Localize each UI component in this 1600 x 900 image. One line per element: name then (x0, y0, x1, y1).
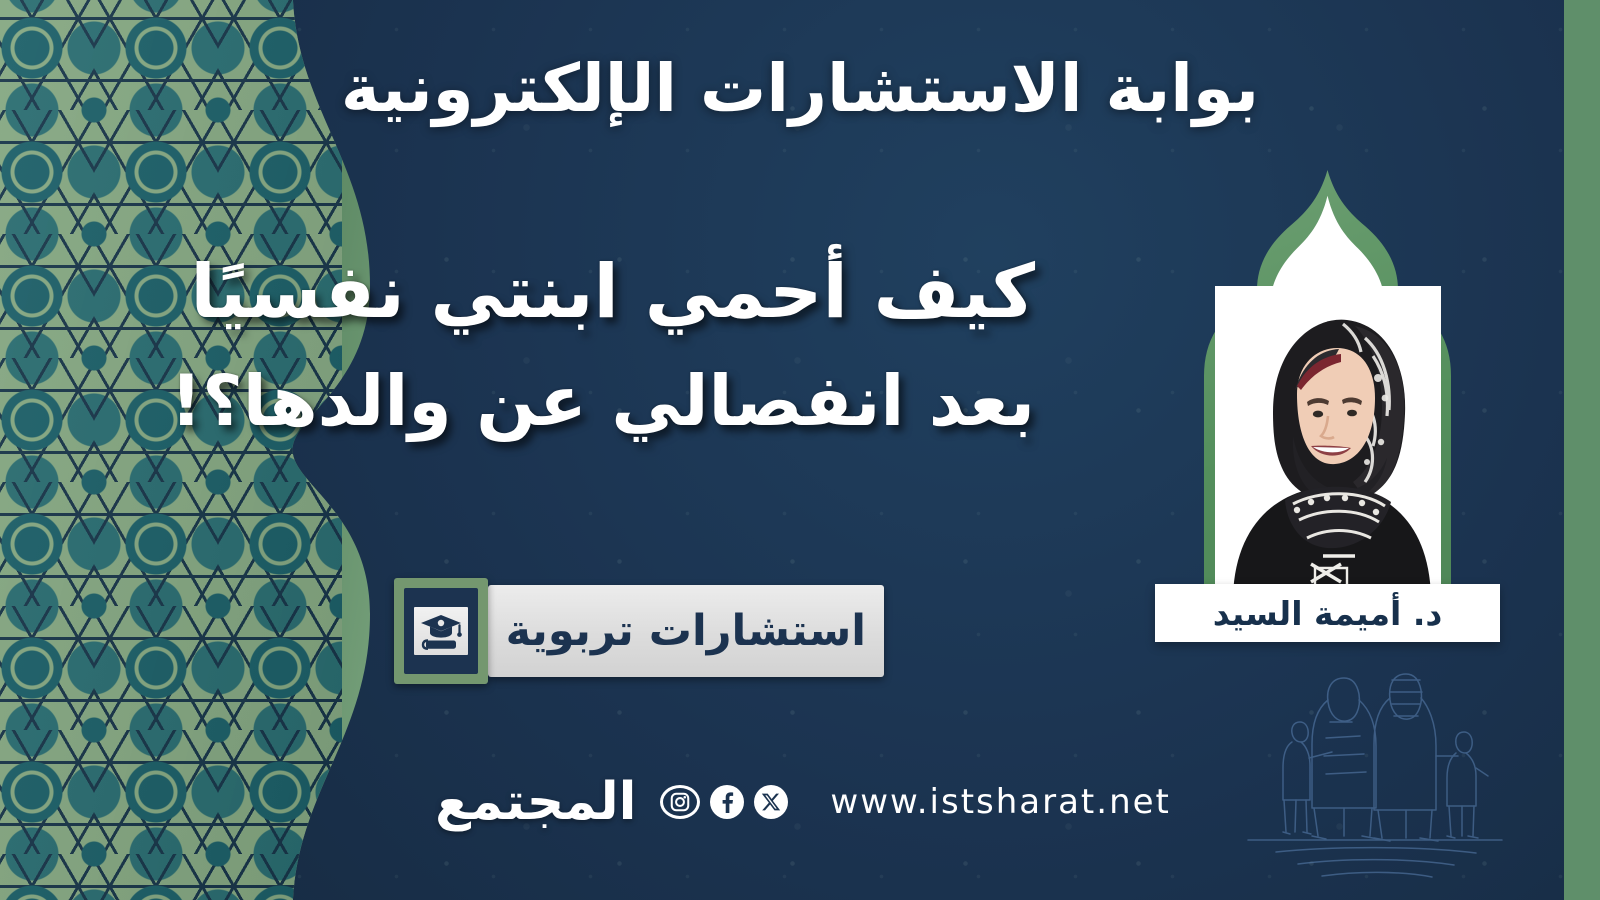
expert-name: د. أميمة السيد (1213, 594, 1443, 633)
footer-bar: المجتمع www.istsharat.net (0, 752, 1600, 852)
headline: كيف أحمي ابنتي نفسيًا بعد انفصالي عن وال… (275, 236, 1035, 455)
social-links (660, 785, 788, 819)
expert-portrait-card: د. أميمة السيد (1155, 166, 1500, 636)
category-badge-icon-box (394, 578, 488, 684)
expert-nameplate: د. أميمة السيد (1155, 584, 1500, 642)
facebook-icon[interactable] (710, 785, 744, 819)
avatar (1215, 286, 1441, 596)
category-badge-plate: استشارات تربوية (488, 585, 884, 677)
category-badge-label: استشارات تربوية (488, 606, 884, 656)
headline-line-1: كيف أحمي ابنتي نفسيًا (275, 236, 1035, 348)
website-url[interactable]: www.istsharat.net (830, 782, 1170, 822)
category-badge[interactable]: استشارات تربوية (444, 578, 884, 684)
x-twitter-icon[interactable] (754, 785, 788, 819)
instagram-icon[interactable] (660, 785, 700, 819)
graduation-cap-book-icon (414, 607, 468, 655)
headline-line-2: بعد انفصالي عن والدها؟! (275, 348, 1035, 454)
poster-canvas: بوابة الاستشارات الإلكترونية كيف أحمي اب… (0, 0, 1600, 900)
brand-logo: المجتمع (435, 776, 636, 828)
